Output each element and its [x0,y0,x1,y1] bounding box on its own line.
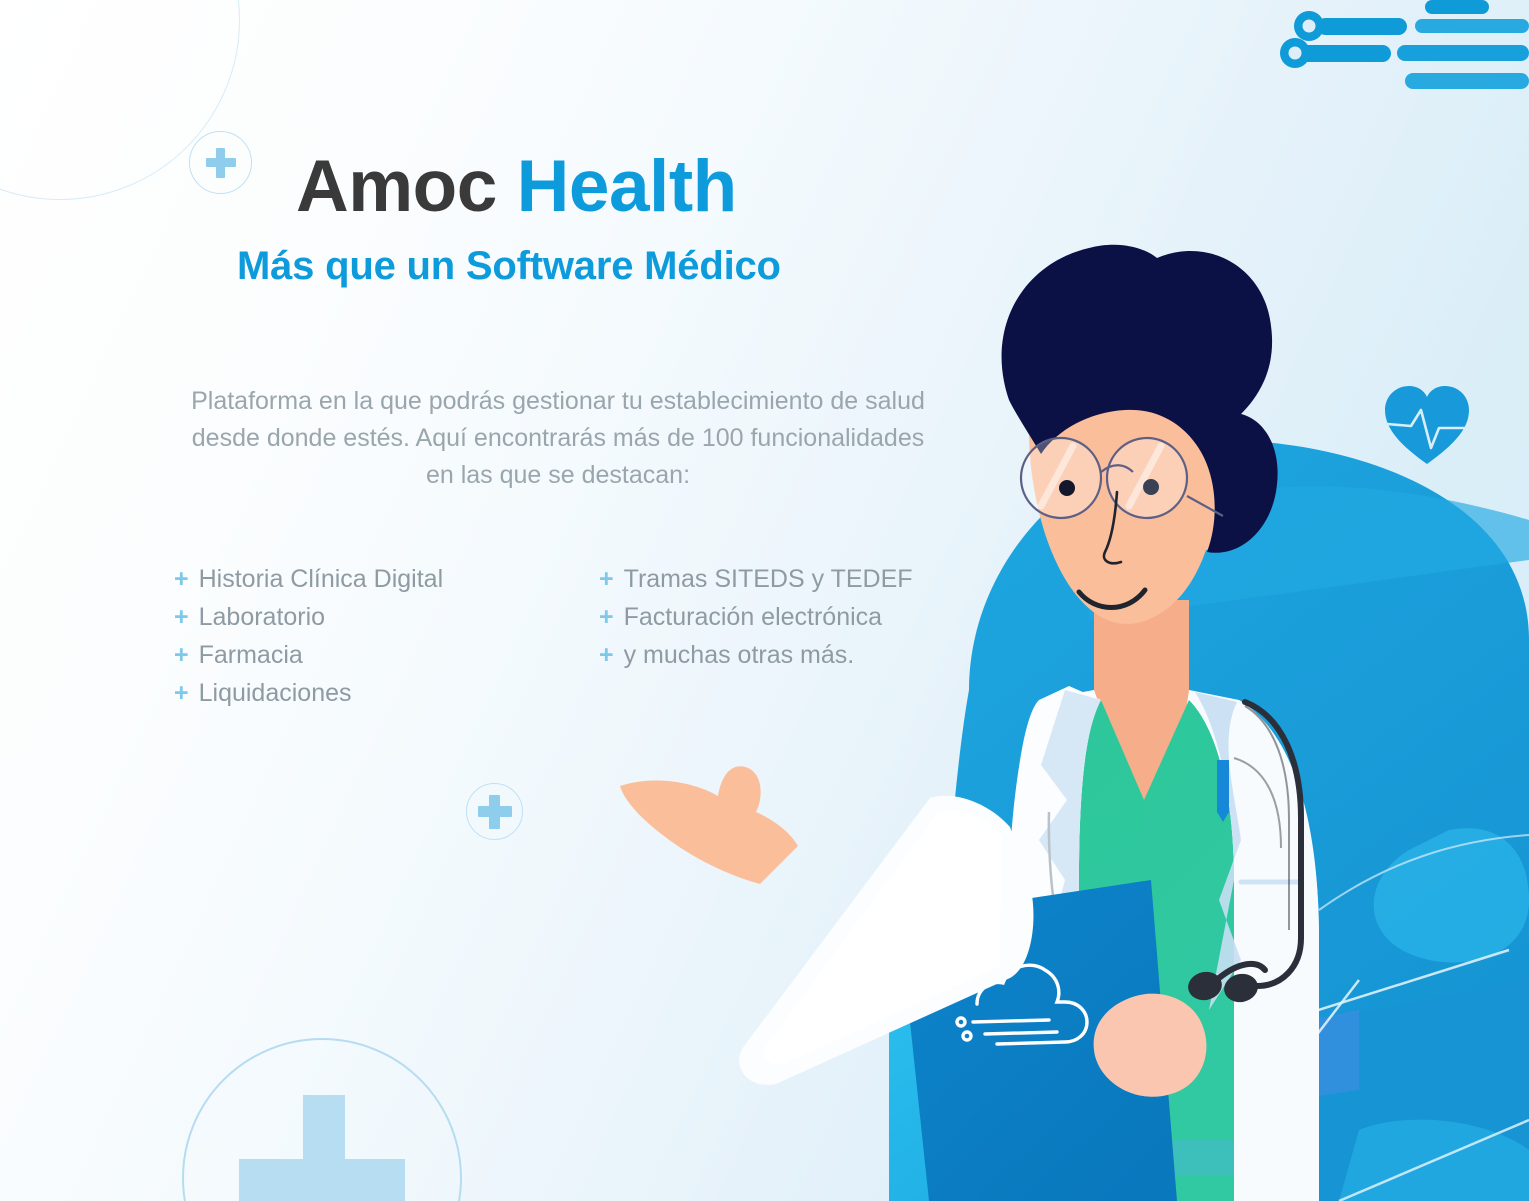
feature-label: Liquidaciones [199,681,352,706]
brand-word-primary: Amoc [296,146,497,227]
plus-bullet-icon: + [599,643,614,668]
list-item: + Farmacia [174,643,599,681]
plus-bullet-icon: + [174,681,189,706]
plus-bullet-icon: + [599,605,614,630]
feature-label: Historia Clínica Digital [199,567,444,592]
list-item: + Tramas SITEDS y TEDEF [599,567,999,605]
feature-label: Tramas SITEDS y TEDEF [624,567,913,592]
plus-bullet-icon: + [174,643,189,668]
tagline: Más que un Software Médico [237,244,781,289]
circuit-lines-icon [1277,0,1529,110]
feature-list-right: + Tramas SITEDS y TEDEF + Facturación el… [599,567,999,719]
lead-paragraph: Plataforma en la que podrás gestionar tu… [178,383,938,493]
feature-label: Farmacia [199,643,303,668]
list-item: + y muchas otras más. [599,643,999,681]
feature-list-left: + Historia Clínica Digital + Laboratorio… [174,567,599,719]
list-item: + Historia Clínica Digital [174,567,599,605]
plus-bullet-icon: + [174,605,189,630]
page-title: Amoc Health [296,150,737,223]
heart-pulse-icon [1379,378,1475,474]
plus-bullet-icon: + [174,567,189,592]
brand-word-accent: Health [517,146,737,227]
feature-label: Laboratorio [199,605,325,630]
list-item: + Facturación electrónica [599,605,999,643]
list-item: + Liquidaciones [174,681,599,719]
hero-text-block: Amoc Health Más que un Software Médico P… [0,0,1000,1201]
plus-bullet-icon: + [599,567,614,592]
hero-banner: Amoc Health Más que un Software Médico P… [0,0,1529,1201]
feature-lists: + Historia Clínica Digital + Laboratorio… [174,567,999,719]
list-item: + Laboratorio [174,605,599,643]
feature-label: Facturación electrónica [624,605,882,630]
feature-label: y muchas otras más. [624,643,855,668]
